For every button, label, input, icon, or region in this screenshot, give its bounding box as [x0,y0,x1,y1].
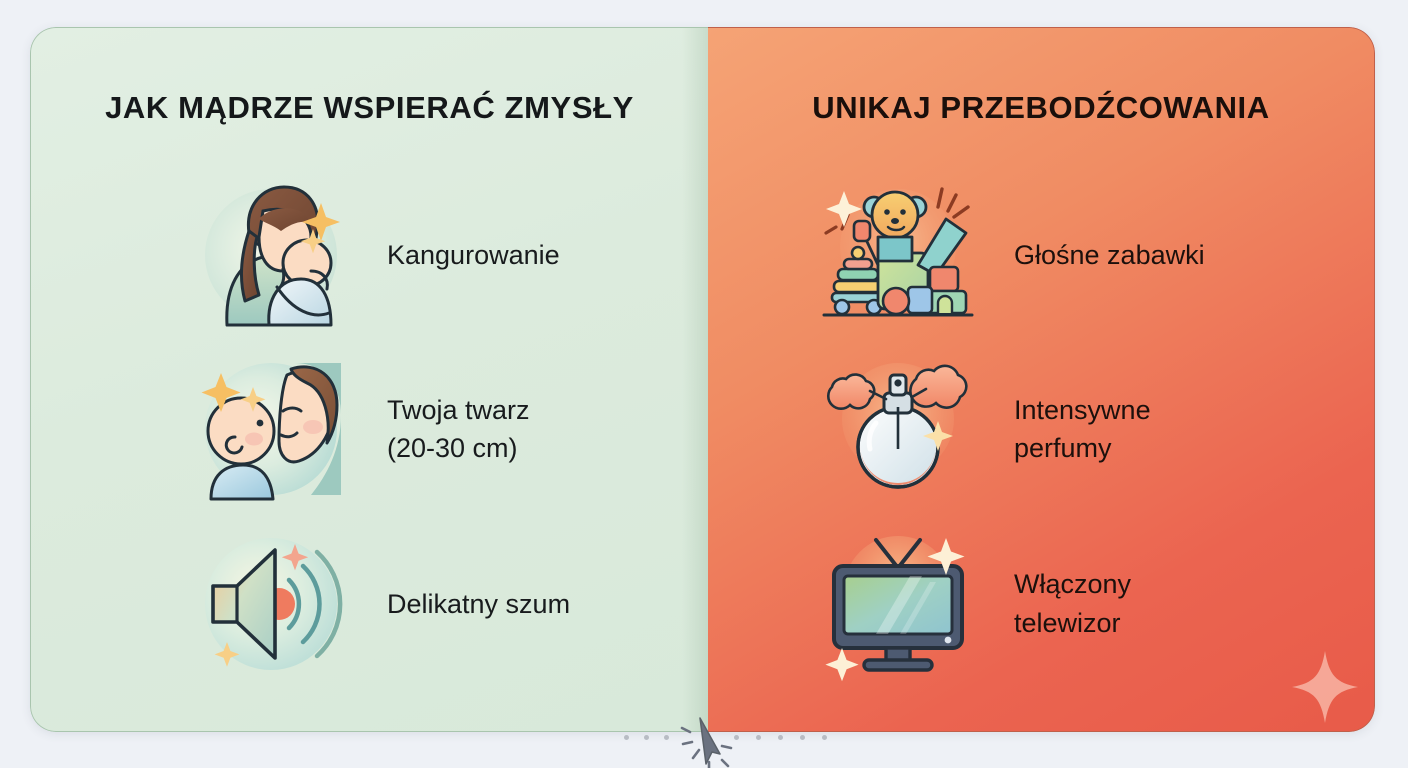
list-item[interactable]: Kangurowanie [31,168,708,342]
list-item-label: Głośne zabawki [1014,236,1205,274]
label-line-2: (20-30 cm) [387,429,530,467]
panel-supportive: JAK MĄDRZE WSPIERAĆ ZMYSŁY [30,27,708,732]
parent-baby-face-icon [191,349,351,509]
list-item[interactable]: Głośne zabawki [708,168,1374,342]
label-line-1: Delikatny szum [387,589,570,619]
label-line-1: Twoja twarz [387,391,530,429]
television-icon [818,524,978,684]
avoid-item-list: Głośne zabawki [708,168,1374,691]
list-item[interactable]: Intensywne perfumy [708,342,1374,516]
loud-toys-icon [818,175,978,335]
panel-title-avoid: UNIKAJ PRZEBODŹCOWANIA [708,90,1374,126]
list-item[interactable]: Twoja twarz (20-30 cm) [31,342,708,516]
kangaroo-care-icon [191,175,351,335]
list-item[interactable]: Delikatny szum [31,517,708,691]
list-item-label: Kangurowanie [387,236,560,274]
list-item[interactable]: Włączony telewizor [708,517,1374,691]
label-line-1: Głośne zabawki [1014,240,1205,270]
list-item-label: Twoja twarz (20-30 cm) [387,391,530,468]
label-line-1: Kangurowanie [387,240,560,270]
gentle-sound-speaker-icon [191,524,351,684]
list-item-label: Intensywne perfumy [1014,391,1151,468]
label-line-1: Włączony [1014,565,1131,603]
dot-rail-left [624,735,674,740]
infographic-stage: JAK MĄDRZE WSPIERAĆ ZMYSŁY [0,0,1408,768]
label-line-2: telewizor [1014,604,1131,642]
comparison-card: JAK MĄDRZE WSPIERAĆ ZMYSŁY [30,27,1375,732]
sparkle-icon [1290,649,1360,725]
panel-title-supportive: JAK MĄDRZE WSPIERAĆ ZMYSŁY [31,90,708,126]
perfume-bottle-icon [818,349,978,509]
click-burst-cursor[interactable] [676,712,756,768]
panel-avoid: UNIKAJ PRZEBODŹCOWANIA [708,27,1375,732]
label-line-2: perfumy [1014,429,1151,467]
supportive-item-list: Kangurowanie [31,168,708,691]
label-line-1: Intensywne [1014,391,1151,429]
list-item-label: Delikatny szum [387,585,570,623]
list-item-label: Włączony telewizor [1014,565,1131,642]
